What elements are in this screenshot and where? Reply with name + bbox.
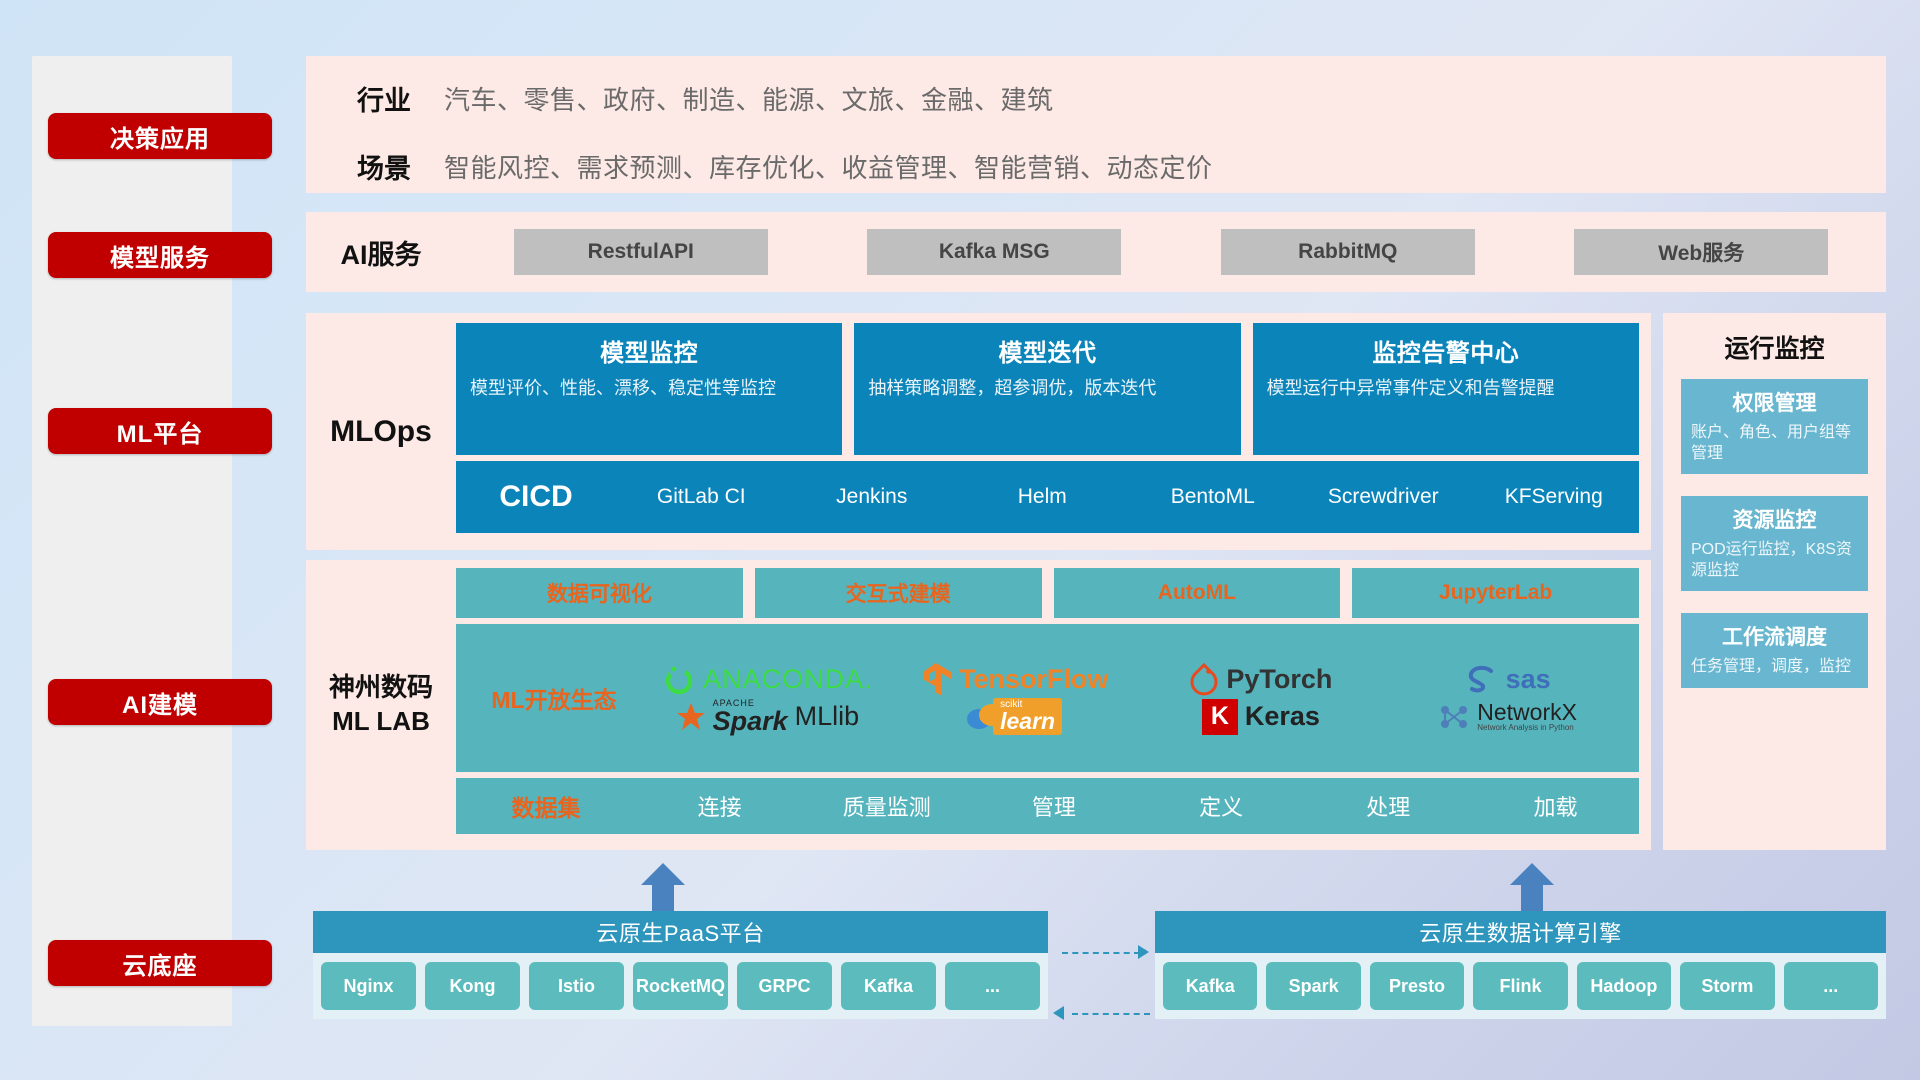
ml-lab-chip-jupyterlab[interactable]: JupyterLab (1352, 568, 1639, 618)
paas-item-grpc[interactable]: GRPC (737, 962, 832, 1010)
layer-tag-label: AI建模 (122, 685, 198, 720)
dataset-item-quality[interactable]: 质量监测 (803, 790, 970, 822)
dataset-item-load[interactable]: 加载 (1472, 790, 1639, 822)
sas-label: sas (1506, 664, 1551, 695)
layer-tag-model-service[interactable]: 模型服务 (48, 232, 272, 278)
ai-service-item-web[interactable]: Web服务 (1574, 229, 1828, 275)
tensorflow-logo: TensorFlow (920, 662, 1109, 698)
mlops-card-title: 监控告警中心 (1267, 333, 1625, 368)
ml-lab-label-line1: 神州数码 (329, 671, 433, 705)
compute-engine-items: Kafka Spark Presto Flink Hadoop Storm ..… (1155, 953, 1886, 1019)
sas-logo: sas (1465, 664, 1551, 695)
pytorch-icon (1189, 663, 1219, 697)
ml-lab-label: 神州数码 ML LAB (306, 560, 456, 850)
layer-tag-label: 决策应用 (110, 119, 210, 154)
spark-label: Spark (713, 708, 788, 735)
layer-tag-label: 模型服务 (110, 238, 210, 273)
spark-star-icon (676, 702, 706, 732)
tensorflow-label: TensorFlow (959, 664, 1109, 695)
learn-label: learn (1000, 710, 1055, 733)
ml-lab-band: 神州数码 ML LAB 数据可视化 交互式建模 AutoML JupyterLa… (306, 560, 1651, 850)
cicd-item-bentoml[interactable]: BentoML (1128, 486, 1299, 508)
run-monitor-card-desc: 账户、角色、用户组等管理 (1691, 422, 1858, 464)
layer-tag-decision[interactable]: 决策应用 (48, 113, 272, 159)
networkx-label: NetworkX (1477, 700, 1577, 724)
paas-item-nginx[interactable]: Nginx (321, 962, 416, 1010)
dashed-connector-bottom (1072, 1013, 1150, 1015)
compute-item-presto[interactable]: Presto (1370, 962, 1464, 1010)
keras-icon: K (1202, 699, 1238, 735)
run-monitor-title: 运行监控 (1663, 313, 1886, 379)
dashed-arrow-right (1138, 945, 1149, 959)
anaconda-icon (662, 663, 696, 697)
architecture-diagram: 决策应用 模型服务 ML平台 AI建模 云底座 行业 汽车、零售、政府、制造、能… (0, 0, 1920, 1080)
scenario-label: 场景 (324, 147, 444, 186)
dataset-label: 数据集 (456, 789, 636, 823)
ml-lab-top-chips: 数据可视化 交互式建模 AutoML JupyterLab (456, 568, 1639, 618)
compute-item-flink[interactable]: Flink (1473, 962, 1567, 1010)
run-monitor-card-workflow[interactable]: 工作流调度 任务管理，调度，监控 (1681, 613, 1868, 687)
scenario-value: 智能风控、需求预测、库存优化、收益管理、智能营销、动态定价 (444, 148, 1213, 185)
layer-tag-label: ML平台 (117, 414, 204, 449)
dataset-item-process[interactable]: 处理 (1305, 790, 1472, 822)
ai-service-item-kafka-msg[interactable]: Kafka MSG (867, 229, 1121, 275)
ai-service-label: AI服务 (306, 233, 456, 272)
mlops-card-desc: 模型评价、性能、漂移、稳定性等监控 (470, 376, 828, 400)
layer-tag-cloud-base[interactable]: 云底座 (48, 940, 272, 986)
compute-item-more[interactable]: ... (1784, 962, 1878, 1010)
ml-eco-row: ML开放生态 ANACONDA. (456, 624, 1639, 772)
run-monitor-card-title: 工作流调度 (1691, 621, 1858, 651)
ml-lab-chip-interactive-modeling[interactable]: 交互式建模 (755, 568, 1042, 618)
industry-value: 汽车、零售、政府、制造、能源、文旅、金融、建筑 (444, 80, 1054, 117)
anaconda-label: ANACONDA. (703, 664, 873, 695)
paas-item-rocketmq[interactable]: RocketMQ (633, 962, 728, 1010)
dashed-arrow-left (1053, 1006, 1064, 1020)
cicd-item-helm[interactable]: Helm (957, 486, 1128, 508)
ai-service-item-restfulapi[interactable]: RestfulAPI (514, 229, 768, 275)
cicd-item-gitlab-ci[interactable]: GitLab CI (616, 486, 787, 508)
tensorflow-icon (920, 662, 952, 698)
anaconda-logo: ANACONDA. (662, 663, 873, 697)
compute-item-kafka[interactable]: Kafka (1163, 962, 1257, 1010)
ai-service-item-rabbitmq[interactable]: RabbitMQ (1221, 229, 1475, 275)
mlops-card-title: 模型监控 (470, 333, 828, 368)
pytorch-label: PyTorch (1226, 664, 1332, 695)
compute-engine-title: 云原生数据计算引擎 (1155, 911, 1886, 953)
keras-label: Keras (1245, 701, 1320, 732)
run-monitor-card-desc: 任务管理，调度，监控 (1691, 656, 1858, 677)
paas-item-kong[interactable]: Kong (425, 962, 520, 1010)
scikit-learn-logo: scikit learn (966, 698, 1062, 735)
compute-item-hadoop[interactable]: Hadoop (1577, 962, 1671, 1010)
networkx-sub-label: Network Analysis in Python (1477, 724, 1577, 732)
dataset-item-define[interactable]: 定义 (1138, 790, 1305, 822)
networkx-icon (1438, 701, 1470, 733)
ai-service-items: RestfulAPI Kafka MSG RabbitMQ Web服务 (456, 229, 1886, 275)
mlops-card-desc: 抽样策略调整，超参调优，版本迭代 (868, 376, 1226, 400)
run-monitor-card-title: 权限管理 (1691, 387, 1858, 417)
pytorch-logo: PyTorch (1189, 663, 1332, 697)
industry-label: 行业 (324, 79, 444, 118)
layer-tag-label: 云底座 (123, 946, 198, 981)
scenario-row: 场景 智能风控、需求预测、库存优化、收益管理、智能营销、动态定价 (306, 132, 1886, 200)
dataset-row: 数据集 连接 质量监测 管理 定义 处理 加载 (456, 778, 1639, 834)
ml-eco-label: ML开放生态 (464, 681, 644, 715)
paas-item-kafka[interactable]: Kafka (841, 962, 936, 1010)
keras-logo: K Keras (1202, 699, 1320, 735)
run-monitor-card-desc: POD运行监控，K8S资源监控 (1691, 539, 1858, 581)
run-monitor-card-resources[interactable]: 资源监控 POD运行监控，K8S资源监控 (1681, 496, 1868, 591)
dataset-item-connect[interactable]: 连接 (636, 790, 803, 822)
paas-box: 云原生PaaS平台 Nginx Kong Istio RocketMQ GRPC… (313, 911, 1048, 1019)
ml-lab-label-line2: ML LAB (329, 705, 433, 739)
mlops-label: MLOps (306, 313, 456, 550)
ml-lab-chip-data-viz[interactable]: 数据可视化 (456, 568, 743, 618)
mllib-label: MLlib (795, 701, 860, 732)
paas-item-istio[interactable]: Istio (529, 962, 624, 1010)
mlops-card-model-iteration[interactable]: 模型迭代 抽样策略调整，超参调优，版本迭代 (854, 323, 1240, 455)
industry-scenario-band: 行业 汽车、零售、政府、制造、能源、文旅、金融、建筑 场景 智能风控、需求预测、… (306, 56, 1886, 193)
ml-lab-chip-automl[interactable]: AutoML (1054, 568, 1341, 618)
paas-title: 云原生PaaS平台 (313, 911, 1048, 953)
paas-items: Nginx Kong Istio RocketMQ GRPC Kafka ... (313, 953, 1048, 1019)
industry-row: 行业 汽车、零售、政府、制造、能源、文旅、金融、建筑 (306, 64, 1886, 132)
layer-rail (32, 56, 232, 1026)
mlops-card-model-monitoring[interactable]: 模型监控 模型评价、性能、漂移、稳定性等监控 (456, 323, 842, 455)
compute-engine-box: 云原生数据计算引擎 Kafka Spark Presto Flink Hadoo… (1155, 911, 1886, 1019)
cicd-item-jenkins[interactable]: Jenkins (787, 486, 958, 508)
ai-service-band: AI服务 RestfulAPI Kafka MSG RabbitMQ Web服务 (306, 212, 1886, 292)
networkx-logo: NetworkX Network Analysis in Python (1438, 700, 1577, 733)
mlops-band: MLOps 模型监控 模型评价、性能、漂移、稳定性等监控 模型迭代 抽样策略调整… (306, 313, 1651, 550)
compute-item-storm[interactable]: Storm (1680, 962, 1774, 1010)
layer-tag-ai-modeling[interactable]: AI建模 (48, 679, 272, 725)
dashed-connector-top (1062, 952, 1140, 954)
dataset-item-manage[interactable]: 管理 (970, 790, 1137, 822)
run-monitor-card-title: 资源监控 (1691, 504, 1858, 534)
spark-mllib-logo: APACHE Spark MLlib (676, 699, 860, 735)
layer-tag-ml-platform[interactable]: ML平台 (48, 408, 272, 454)
run-monitor-card-permissions[interactable]: 权限管理 账户、角色、用户组等管理 (1681, 379, 1868, 474)
paas-item-more[interactable]: ... (945, 962, 1040, 1010)
sas-icon (1465, 665, 1499, 695)
mlops-cards: 模型监控 模型评价、性能、漂移、稳定性等监控 模型迭代 抽样策略调整，超参调优，… (456, 323, 1639, 455)
run-monitor-panel: 运行监控 权限管理 账户、角色、用户组等管理 资源监控 POD运行监控，K8S资… (1663, 313, 1886, 850)
cicd-item-kfserving[interactable]: KFServing (1469, 486, 1640, 508)
mlops-card-desc: 模型运行中异常事件定义和告警提醒 (1267, 376, 1625, 400)
cicd-item-screwdriver[interactable]: Screwdriver (1298, 486, 1469, 508)
mlops-card-title: 模型迭代 (868, 333, 1226, 368)
mlops-card-alert-center[interactable]: 监控告警中心 模型运行中异常事件定义和告警提醒 (1253, 323, 1639, 455)
cicd-label: CICD (456, 480, 616, 514)
cicd-row: CICD GitLab CI Jenkins Helm BentoML Scre… (456, 461, 1639, 533)
compute-item-spark[interactable]: Spark (1266, 962, 1360, 1010)
